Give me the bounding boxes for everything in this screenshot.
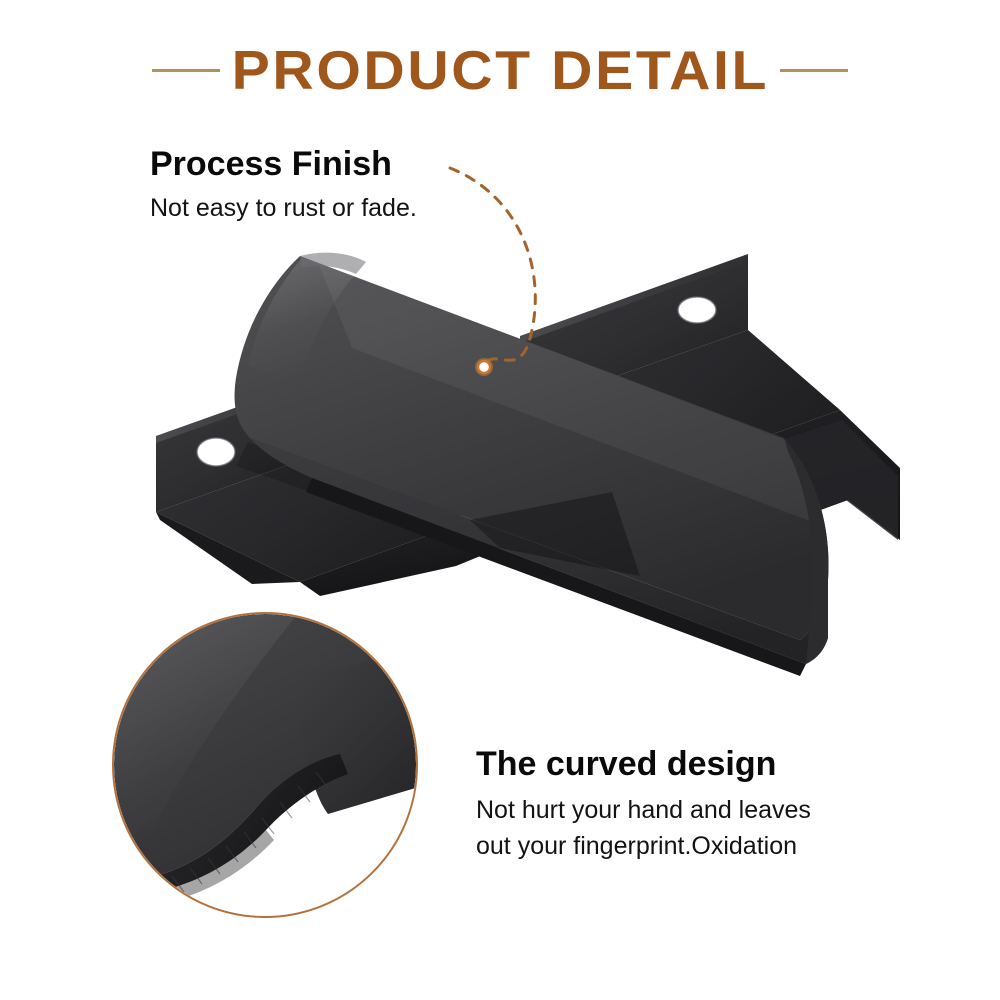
detail-closeup-image bbox=[114, 614, 416, 916]
feature-curved-design-line-1: Not hurt your hand and leaves bbox=[476, 793, 811, 829]
product-detail-page: PRODUCT DETAIL bbox=[0, 0, 1000, 1000]
feature-process-finish-body: Not easy to rust or fade. bbox=[150, 191, 417, 227]
feature-curved-design-line-2: out your fingerprint.Oxidation bbox=[476, 829, 811, 865]
feature-curved-design: The curved design Not hurt your hand and… bbox=[476, 745, 811, 864]
detail-closeup-circle bbox=[112, 612, 418, 918]
feature-curved-design-title: The curved design bbox=[476, 745, 811, 783]
feature-process-finish-line-1: Not easy to rust or fade. bbox=[150, 191, 417, 227]
feature-process-finish-title: Process Finish bbox=[150, 145, 417, 183]
feature-process-finish: Process Finish Not easy to rust or fade. bbox=[150, 145, 417, 227]
feature-curved-design-body: Not hurt your hand and leaves out your f… bbox=[476, 793, 811, 864]
